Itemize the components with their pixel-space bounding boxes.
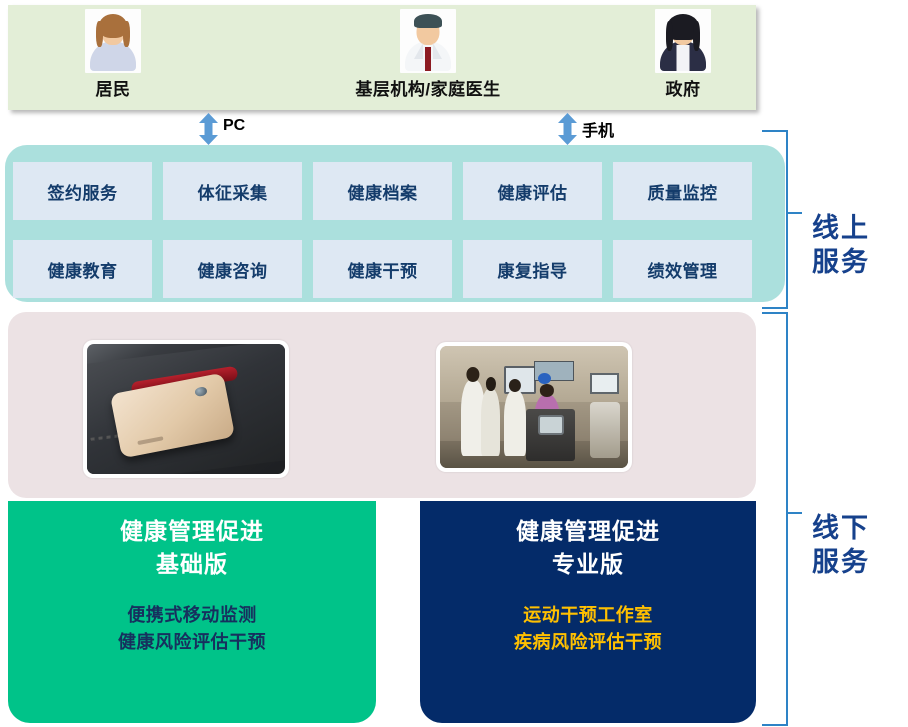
- offline-services-panel: [8, 312, 756, 498]
- product-card-professional[interactable]: 健康管理促进 专业版 运动干预工作室 疾病风险评估干预: [420, 501, 756, 723]
- service-tile-jiankangpinggu[interactable]: 健康评估: [463, 162, 602, 220]
- service-tile-jiankangzixun[interactable]: 健康咨询: [163, 240, 302, 298]
- channel-label-mobile: 手机: [582, 117, 614, 141]
- product-title-professional: 健康管理促进 专业版: [420, 501, 756, 580]
- online-services-panel: 签约服务 体征采集 健康档案 健康评估 质量监控 健康教育 健康咨询 健康干预 …: [5, 145, 785, 302]
- side-label-offline: 线下 服务: [812, 512, 870, 580]
- bracket-tick-offline: [786, 512, 802, 514]
- side-label-online: 线上 服务: [812, 212, 870, 280]
- channel-label-pc: PC: [223, 117, 245, 135]
- actor-label-resident: 居民: [23, 75, 203, 100]
- service-tile-zhiliangjiankong[interactable]: 质量监控: [613, 162, 752, 220]
- actor-government: 政府: [593, 5, 773, 110]
- actor-resident: 居民: [23, 5, 203, 110]
- portable-monitoring-device-photo: [83, 340, 289, 478]
- doctor-avatar-icon: [400, 9, 456, 73]
- product-features-basic: 便携式移动监测 健康风险评估干预: [8, 580, 376, 656]
- resident-avatar-icon: [85, 9, 141, 73]
- service-tile-jiankangjiaoyu[interactable]: 健康教育: [13, 240, 152, 298]
- product-features-professional: 运动干预工作室 疾病风险评估干预: [420, 580, 756, 656]
- bracket-tick-online: [786, 212, 802, 214]
- service-tile-qianyuefuwu[interactable]: 签约服务: [13, 162, 152, 220]
- actor-label-government: 政府: [593, 75, 773, 100]
- service-tile-kangfuzhidao[interactable]: 康复指导: [463, 240, 602, 298]
- service-tile-jixiaoguanli[interactable]: 绩效管理: [613, 240, 752, 298]
- bracket-offline: [762, 312, 788, 726]
- up-down-arrow-icon: [558, 113, 577, 145]
- service-tile-jiankangdangan[interactable]: 健康档案: [313, 162, 452, 220]
- up-down-arrow-icon: [199, 113, 218, 145]
- actor-label-clinic-doctor: 基层机构/家庭医生: [338, 75, 518, 100]
- stakeholders-panel: 居民 基层机构/家庭医生 政府: [8, 5, 756, 110]
- service-tile-tizhengcaiji[interactable]: 体征采集: [163, 162, 302, 220]
- government-avatar-icon: [655, 9, 711, 73]
- product-card-basic[interactable]: 健康管理促进 基础版 便携式移动监测 健康风险评估干预: [8, 501, 376, 723]
- exercise-intervention-studio-photo: [436, 342, 632, 472]
- actor-clinic-doctor: 基层机构/家庭医生: [338, 5, 518, 110]
- bracket-online: [762, 130, 788, 309]
- service-tile-jiankangganyu[interactable]: 健康干预: [313, 240, 452, 298]
- product-title-basic: 健康管理促进 基础版: [8, 501, 376, 580]
